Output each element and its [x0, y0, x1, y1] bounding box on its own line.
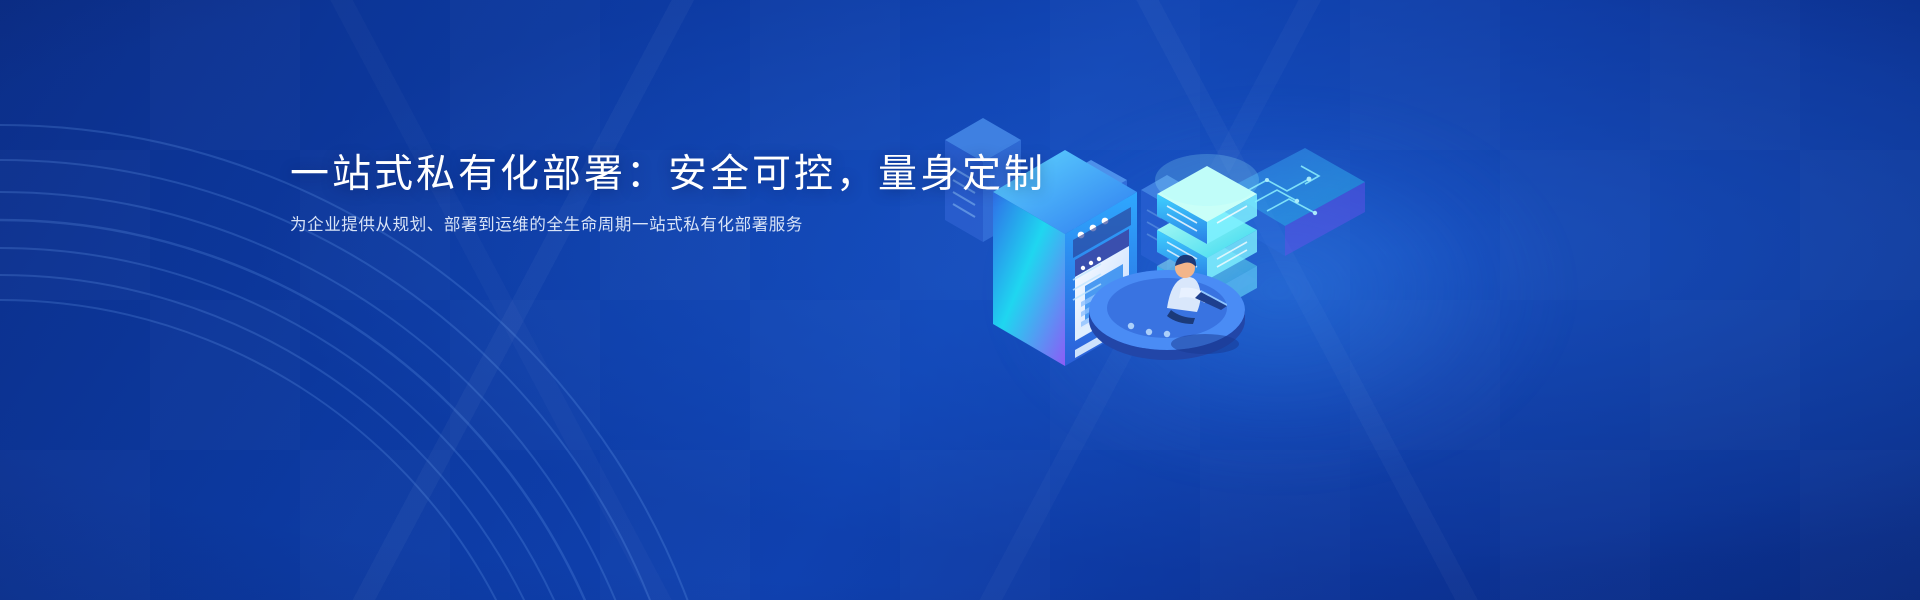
- hero-banner: 一站式私有化部署：安全可控，量身定制 为企业提供从规划、部署到运维的全生命周期一…: [0, 0, 1920, 600]
- page-subtitle: 为企业提供从规划、部署到运维的全生命周期一站式私有化部署服务: [290, 213, 803, 238]
- page-title: 一站式私有化部署：安全可控，量身定制: [290, 152, 1046, 199]
- hero-copy: 一站式私有化部署：安全可控，量身定制 为企业提供从规划、部署到运维的全生命周期一…: [0, 0, 1180, 600]
